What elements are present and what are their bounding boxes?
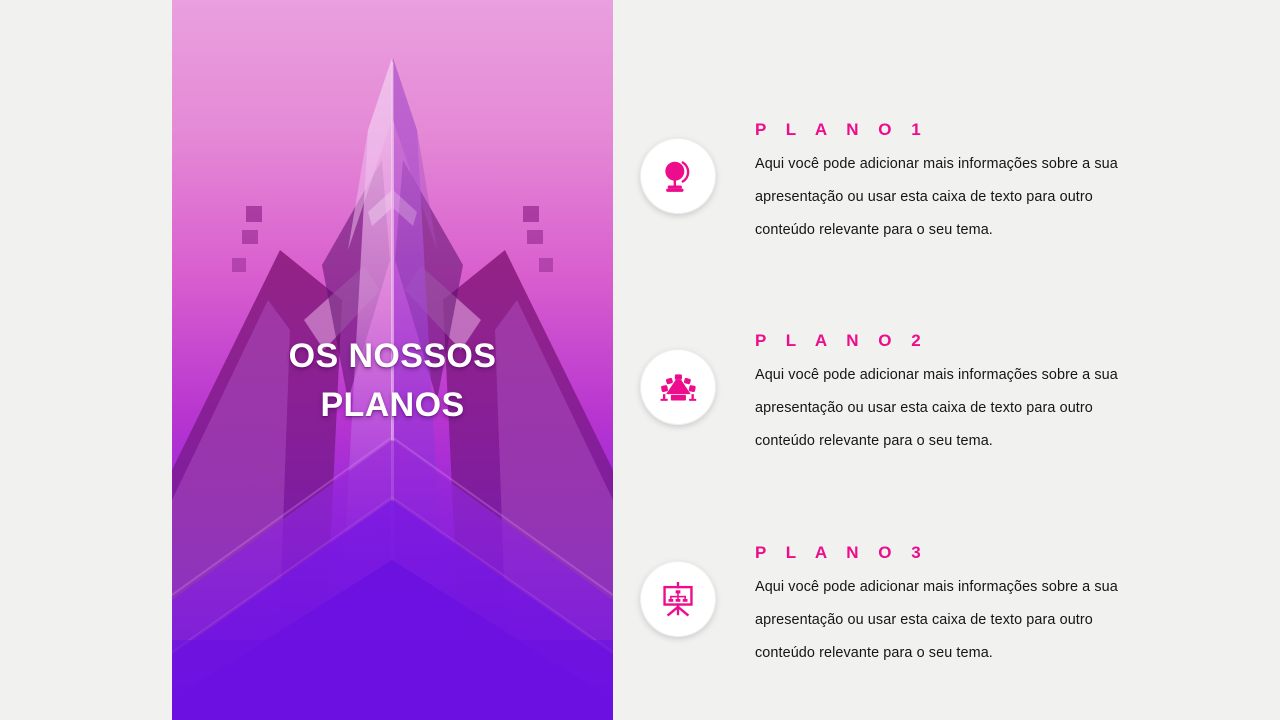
meeting-table-icon xyxy=(640,349,716,425)
slide: OS NOSSOS PLANOS P L A N O 1 Aqui v xyxy=(0,0,1280,720)
hero-title: OS NOSSOS PLANOS xyxy=(172,332,613,431)
plan-text-block: P L A N O 3 Aqui você pode adicionar mai… xyxy=(755,543,1155,670)
plan-title: P L A N O 1 xyxy=(755,120,1155,140)
plan-text-block: P L A N O 1 Aqui você pode adicionar mai… xyxy=(755,120,1155,247)
plan-item[interactable]: P L A N O 1 Aqui você pode adicionar mai… xyxy=(640,120,1180,247)
plan-icon-badge[interactable] xyxy=(640,561,716,637)
plan-title: P L A N O 2 xyxy=(755,331,1155,351)
plan-icon-badge[interactable] xyxy=(640,138,716,214)
plan-body: Aqui você pode adicionar mais informaçõe… xyxy=(755,571,1140,670)
globe-icon xyxy=(640,138,716,214)
plan-body: Aqui você pode adicionar mais informaçõe… xyxy=(755,359,1140,458)
plan-item[interactable]: P L A N O 2 Aqui você pode adicionar mai… xyxy=(640,331,1180,458)
plan-body: Aqui você pode adicionar mais informaçõe… xyxy=(755,148,1140,247)
plan-item[interactable]: P L A N O 3 Aqui você pode adicionar mai… xyxy=(640,543,1180,670)
plans-panel: P L A N O 1 Aqui você pode adicionar mai… xyxy=(640,0,1280,720)
plan-icon-badge[interactable] xyxy=(640,349,716,425)
hero-image-panel: OS NOSSOS PLANOS xyxy=(172,0,613,720)
plan-text-block: P L A N O 2 Aqui você pode adicionar mai… xyxy=(755,331,1155,458)
plan-title: P L A N O 3 xyxy=(755,543,1155,563)
presentation-board-icon xyxy=(640,561,716,637)
